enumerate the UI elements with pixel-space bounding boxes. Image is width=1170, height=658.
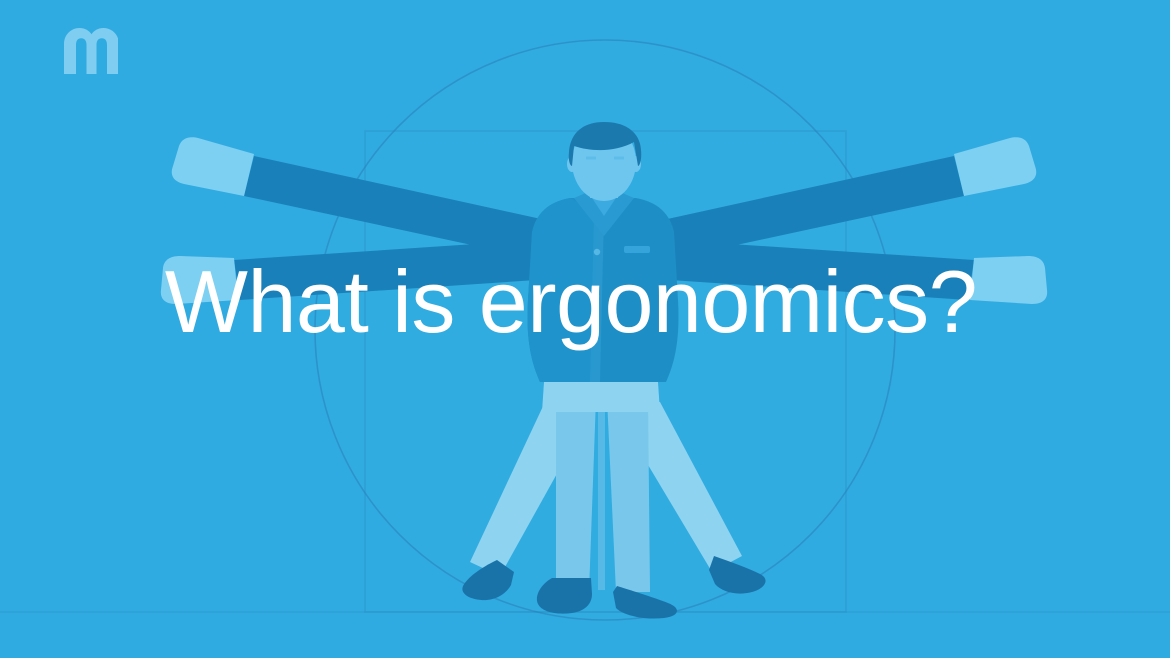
hand-upper-right (954, 137, 1036, 196)
slide-canvas: What is ergonomics? (0, 0, 1170, 658)
legs-vertical (556, 398, 650, 592)
brand-logo[interactable] (62, 28, 118, 76)
page-title: What is ergonomics? (0, 258, 1156, 346)
letter-m-logo (64, 28, 118, 74)
hand-upper-left (172, 137, 254, 196)
